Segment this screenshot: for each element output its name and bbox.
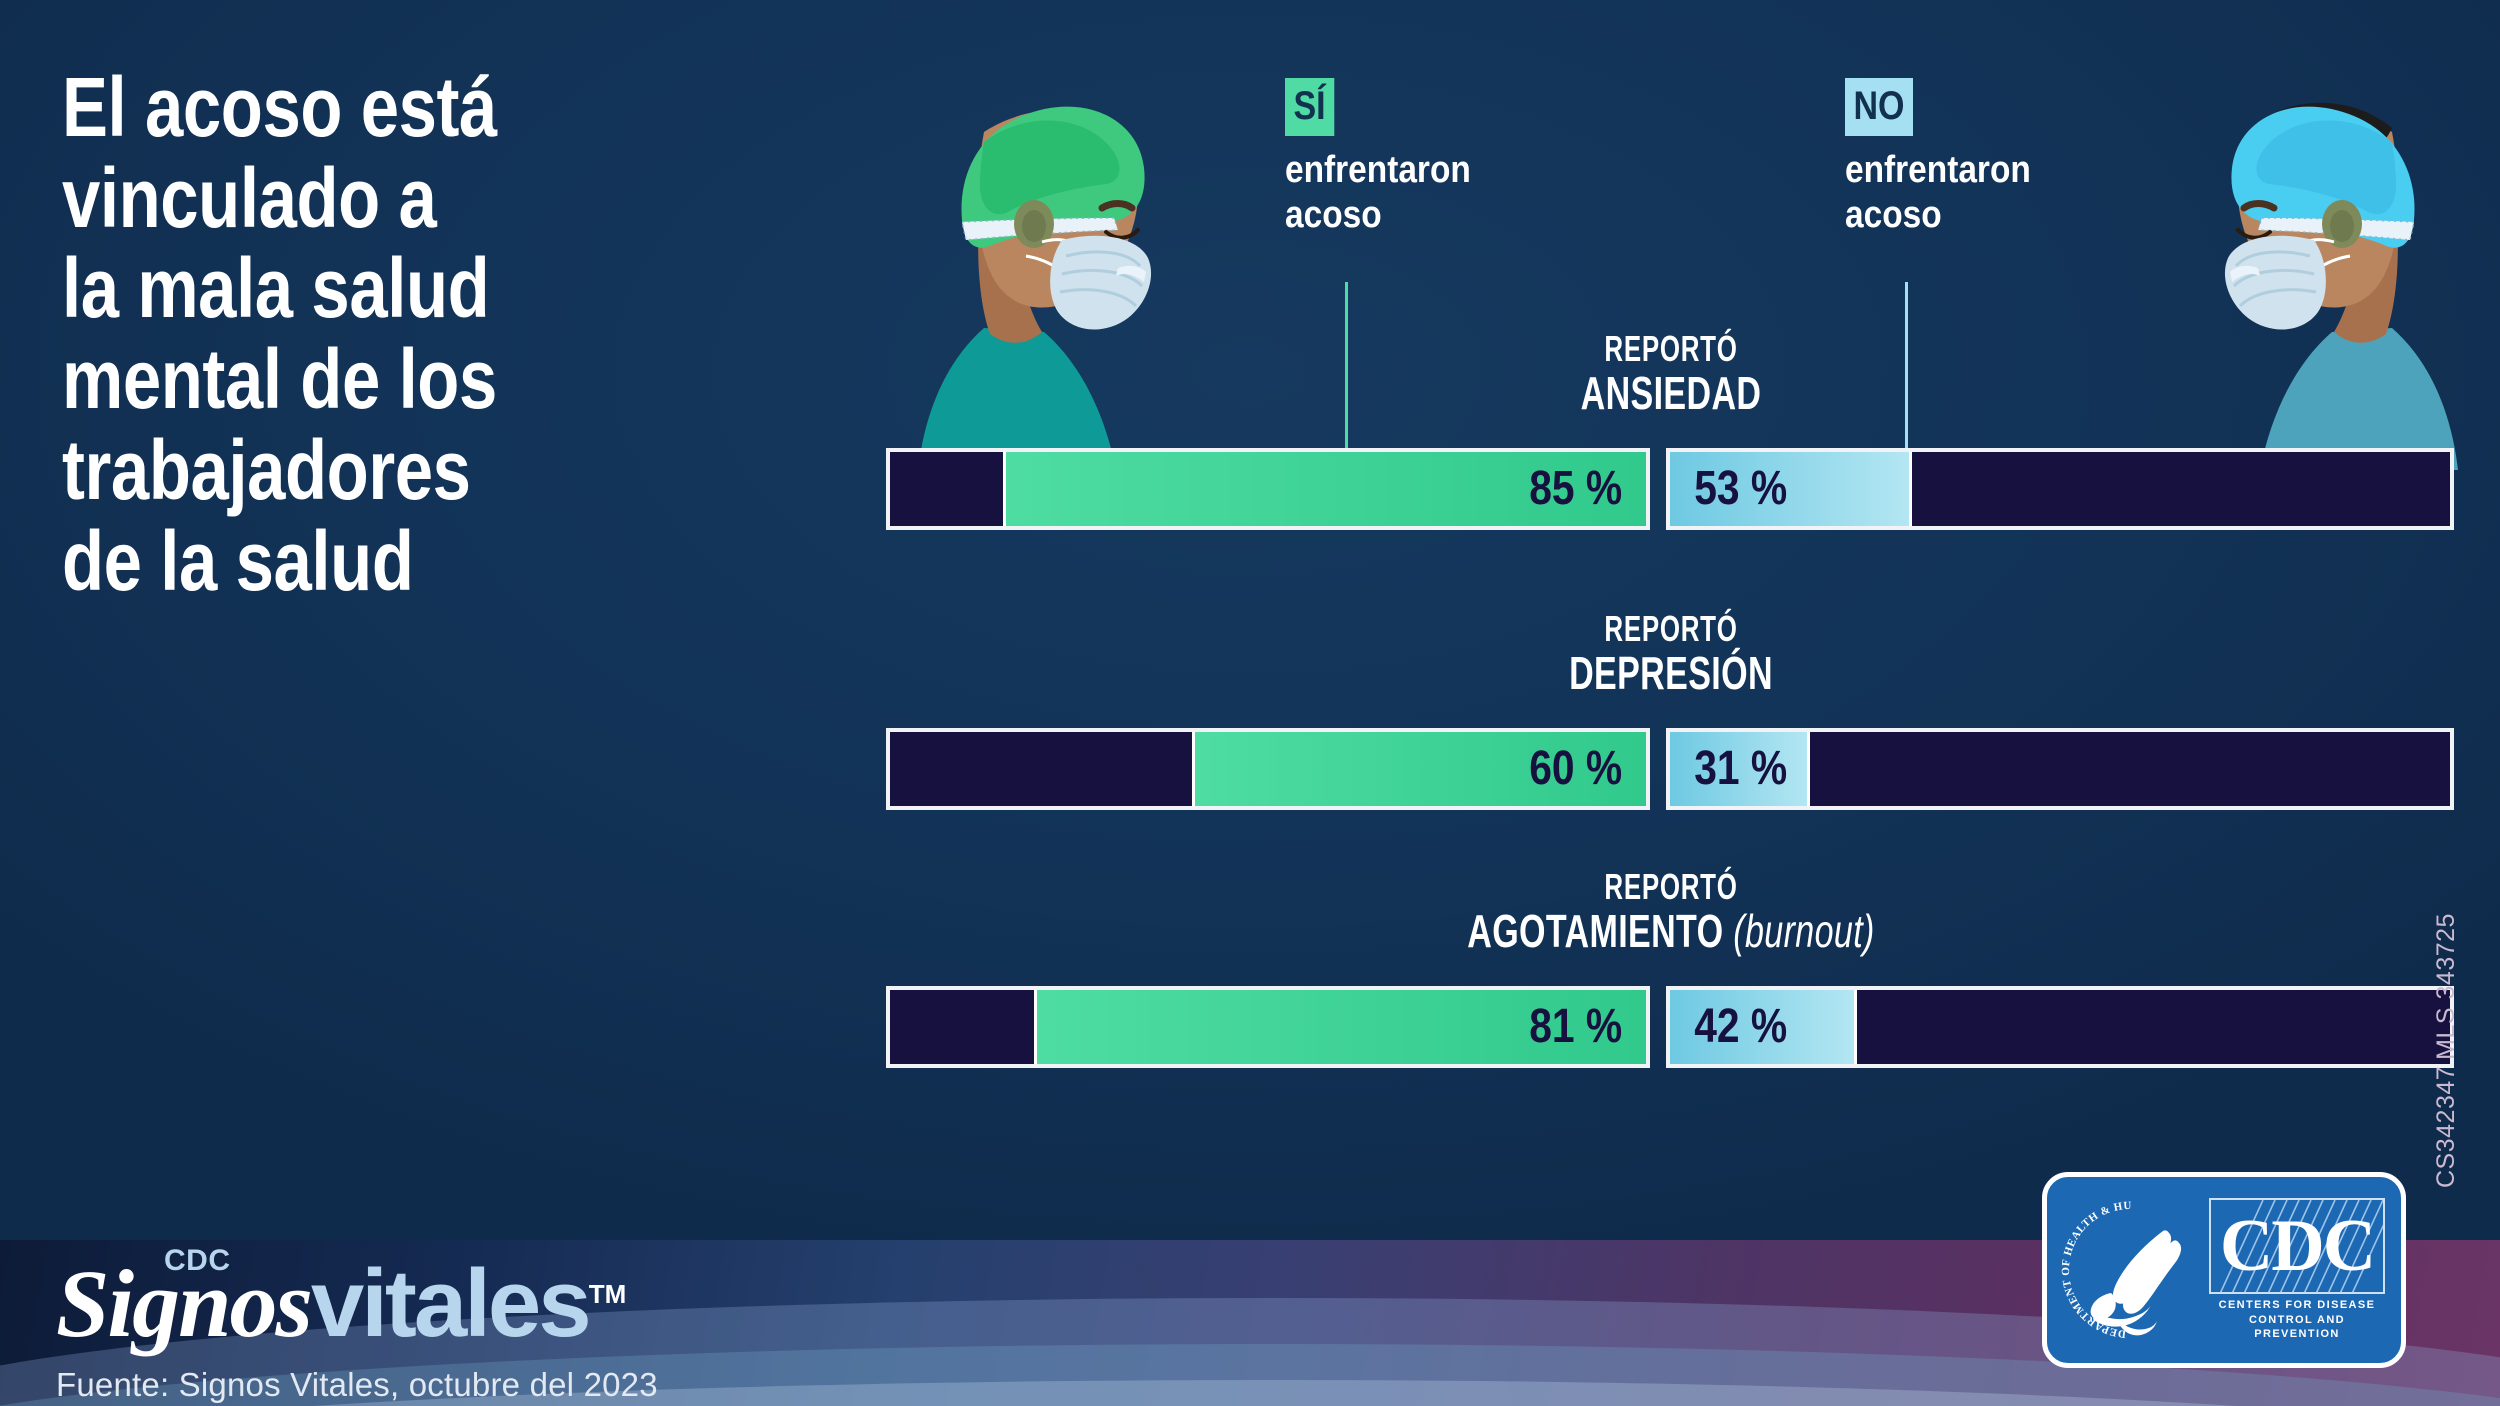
trademark-icon: TM	[589, 1279, 627, 1309]
bar-fill-yes: 60 %	[1192, 732, 1646, 806]
legend-yes: SÍ enfrentaron acoso	[1285, 78, 1496, 238]
logo-vitales-text: vitales	[311, 1250, 589, 1357]
logo-wordmark: CDCSignosvitalesTM	[56, 1256, 658, 1352]
row-kicker: REPORTÓ	[1107, 868, 2235, 906]
row-kicker: REPORTÓ	[1107, 610, 2235, 648]
bar-value-yes: 60 %	[1529, 745, 1622, 793]
signos-vitales-logo: CDCSignosvitalesTM Fuente: Signos Vitale…	[56, 1256, 658, 1404]
bar-pair: 85 % 53 %	[0, 448, 2500, 530]
document-code-mls: MLS 343725	[2432, 913, 2461, 1060]
infographic: El acoso está vinculado a la mala salud …	[0, 0, 2500, 1406]
bar-fill-no: 53 %	[1670, 452, 1912, 526]
row-title-text: DEPRESIÓN	[1569, 647, 1773, 699]
bar-fill-no: 31 %	[1670, 732, 1810, 806]
row-title-text: ANSIEDAD	[1581, 367, 1762, 419]
bar-pair: 60 % 31 %	[0, 728, 2500, 810]
source-note: Fuente: Signos Vitales, octubre del 2023	[56, 1366, 658, 1404]
legend-no-label: enfrentaron acoso	[1845, 148, 2031, 238]
document-codes: CS342347 MLS 343725	[2432, 1008, 2461, 1188]
bar-track-no: 42 %	[1666, 986, 2454, 1068]
headline-line: mental de los	[62, 334, 636, 425]
main-panel: El acoso está vinculado a la mala salud …	[0, 0, 2500, 1240]
cdc-box-icon: CDC	[2209, 1198, 2385, 1294]
row-kicker: REPORTÓ	[1107, 330, 2235, 368]
bar-fill-no: 42 %	[1670, 990, 1857, 1064]
headline-line: El acoso está	[62, 62, 636, 153]
legend-no-chip: NO	[1845, 78, 1913, 136]
bar-fill-yes: 85 %	[1003, 452, 1646, 526]
legend-yes-chip: SÍ	[1285, 78, 1334, 136]
row-heading: REPORTÓ ANSIEDAD	[888, 330, 2454, 420]
bar-fill-yes: 81 %	[1034, 990, 1646, 1064]
cdc-logo: DEPARTMENT OF HEALTH & HUMAN SERVICES·US…	[2042, 1172, 2406, 1368]
bar-value-no: 53 %	[1694, 465, 1787, 513]
legend-yes-label: enfrentaron acoso	[1285, 148, 1471, 238]
document-code-cs: CS342347	[2432, 1066, 2461, 1188]
row-title: ANSIEDAD	[1092, 368, 2251, 420]
bar-value-no: 31 %	[1694, 745, 1787, 793]
bar-track-no: 53 %	[1666, 448, 2454, 530]
cdc-letters: CDC	[2211, 1200, 2383, 1292]
row-heading: REPORTÓ DEPRESIÓN	[888, 610, 2454, 700]
bar-value-yes: 81 %	[1529, 1003, 1622, 1051]
bar-value-no: 42 %	[1694, 1003, 1787, 1051]
row-title: AGOTAMIENTO (burnout)	[1092, 906, 2251, 958]
cdc-tagline-line1: CENTERS FOR DISEASE	[2209, 1298, 2385, 1313]
cdc-tagline-line2: CONTROL AND PREVENTION	[2209, 1313, 2385, 1343]
headline-line: vinculado a	[62, 153, 636, 244]
legend-no: NO enfrentaron acoso	[1845, 78, 2056, 238]
row-title-text: AGOTAMIENTO	[1467, 905, 1723, 957]
bar-value-yes: 85 %	[1529, 465, 1622, 513]
bar-track-yes: 85 %	[886, 448, 1650, 530]
bar-track-yes: 81 %	[886, 986, 1650, 1068]
headline-line: la mala salud	[62, 243, 636, 334]
cdc-wordmark: CDC CENTERS FOR DISEASE CONTROL AND PREV…	[2209, 1198, 2385, 1343]
logo-cdc-text: CDC	[164, 1246, 231, 1276]
row-heading: REPORTÓ AGOTAMIENTO (burnout)	[888, 868, 2454, 958]
bar-track-no: 31 %	[1666, 728, 2454, 810]
row-title-parenthetical: (burnout)	[1733, 905, 1874, 957]
bar-pair: 81 % 42 %	[0, 986, 2500, 1068]
row-title: DEPRESIÓN	[1092, 648, 2251, 700]
hhs-seal-icon: DEPARTMENT OF HEALTH & HUMAN SERVICES·US…	[2055, 1195, 2205, 1345]
bar-track-yes: 60 %	[886, 728, 1650, 810]
